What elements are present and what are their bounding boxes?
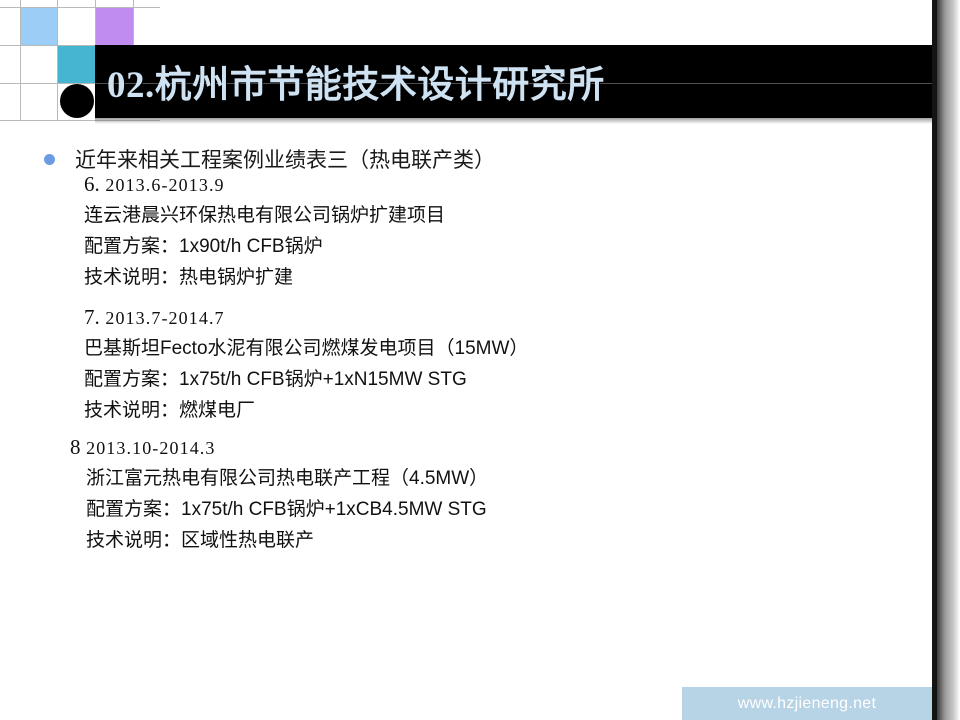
entry-heading: 8 2013.10-2014.3 <box>70 435 488 460</box>
slide-title-bar: 02.杭州市节能技术设计研究所 <box>95 45 932 118</box>
lead-text: 近年来相关工程案例业绩表三（热电联产类） <box>75 144 495 174</box>
entry-number: 8 <box>70 435 81 459</box>
slide-surface: 02.杭州市节能技术设计研究所 近年来相关工程案例业绩表三（热电联产类） 6. … <box>0 0 932 720</box>
entry-number: 7. <box>84 305 100 329</box>
entry-config: 配置方案：1x75t/h CFB锅炉+1xCB4.5MW STG <box>86 494 488 525</box>
title-bar-shadow <box>95 118 932 124</box>
entry-body: 巴基斯坦Fecto水泥有限公司燃煤发电项目（15MW） 配置方案：1x75t/h… <box>84 333 528 426</box>
decorative-square-purple <box>96 8 133 45</box>
bullet-icon <box>44 154 55 165</box>
entry-period: 2013.6-2013.9 <box>105 175 224 195</box>
slide-title: 02.杭州市节能技术设计研究所 <box>107 53 605 107</box>
entry-project: 巴基斯坦Fecto水泥有限公司燃煤发电项目（15MW） <box>84 333 528 364</box>
entry-tech: 技术说明：区域性热电联产 <box>86 525 488 556</box>
entry-body: 浙江富元热电有限公司热电联产工程（4.5MW） 配置方案：1x75t/h CFB… <box>70 463 488 556</box>
entry-config: 配置方案：1x75t/h CFB锅炉+1xN15MW STG <box>84 364 528 395</box>
lead-bullet-row: 近年来相关工程案例业绩表三（热电联产类） <box>44 144 495 174</box>
entry-body: 连云港晨兴环保热电有限公司锅炉扩建项目 配置方案：1x90t/h CFB锅炉 技… <box>84 200 445 293</box>
entry-number: 6. <box>84 172 100 196</box>
project-entry: 8 2013.10-2014.3 浙江富元热电有限公司热电联产工程（4.5MW）… <box>70 435 488 556</box>
decorative-square-teal <box>58 46 95 83</box>
entry-heading: 6. 2013.6-2013.9 <box>84 172 445 197</box>
entry-project: 浙江富元热电有限公司热电联产工程（4.5MW） <box>86 463 488 494</box>
entry-tech: 技术说明：燃煤电厂 <box>84 395 528 426</box>
entry-tech: 技术说明：热电锅炉扩建 <box>84 262 445 293</box>
entry-heading: 7. 2013.7-2014.7 <box>84 305 528 330</box>
decorative-square-blue <box>21 8 57 45</box>
footer-url: www.hzjieneng.net <box>682 687 932 720</box>
entry-period: 2013.7-2014.7 <box>105 308 224 328</box>
entry-period: 2013.10-2014.3 <box>86 438 215 458</box>
presentation-slide: 02.杭州市节能技术设计研究所 近年来相关工程案例业绩表三（热电联产类） 6. … <box>0 0 960 720</box>
entry-project: 连云港晨兴环保热电有限公司锅炉扩建项目 <box>84 200 445 231</box>
entry-config: 配置方案：1x90t/h CFB锅炉 <box>84 231 445 262</box>
decorative-circle-black <box>60 84 94 118</box>
footer-band: www.hzjieneng.net <box>682 687 932 720</box>
project-entry: 6. 2013.6-2013.9 连云港晨兴环保热电有限公司锅炉扩建项目 配置方… <box>84 172 445 293</box>
project-entry: 7. 2013.7-2014.7 巴基斯坦Fecto水泥有限公司燃煤发电项目（1… <box>84 305 528 426</box>
slide-right-shadow <box>937 0 960 720</box>
